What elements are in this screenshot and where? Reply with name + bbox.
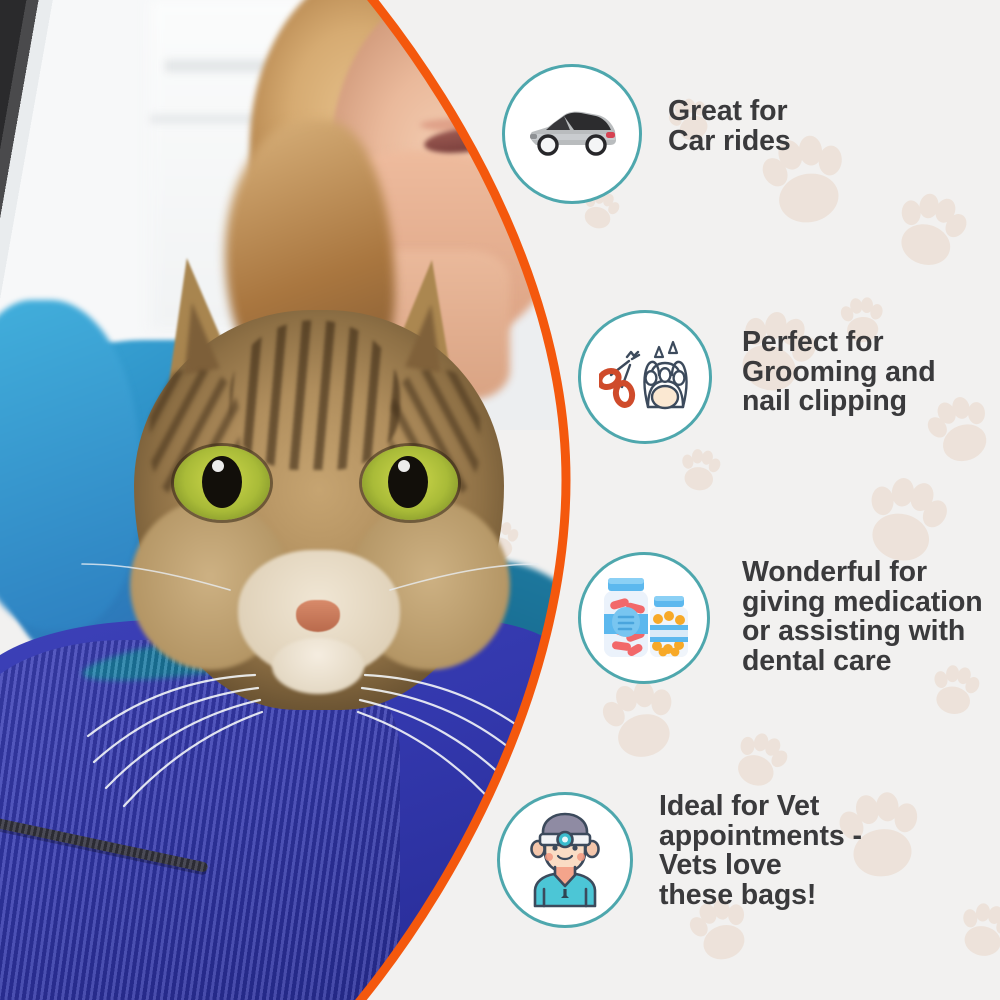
nail-clippers-paw-icon — [599, 335, 691, 419]
feature-grooming[interactable]: Perfect for Grooming and nail clipping — [578, 310, 936, 444]
feature-car-rides[interactable]: Great for Car rides — [502, 64, 791, 204]
feature-medication[interactable]: Wonderful for giving medication or assis… — [578, 552, 983, 684]
feature-icon-circle — [502, 64, 642, 204]
feature-icon-circle — [578, 310, 712, 444]
feature-label: Wonderful for giving medication or assis… — [742, 558, 983, 676]
feature-label: Ideal for Vet appointments - Vets love t… — [659, 792, 862, 910]
cat-photo-subject — [120, 250, 540, 730]
veterinarian-icon — [521, 812, 609, 908]
pill-bottles-icon — [594, 574, 694, 662]
feature-vet-appointments[interactable]: Ideal for Vet appointments - Vets love t… — [497, 792, 862, 928]
feature-icon-circle — [578, 552, 710, 684]
feature-icon-circle — [497, 792, 633, 928]
product-feature-image: Great for Car rides — [0, 0, 1000, 1000]
car-icon — [524, 107, 620, 161]
feature-label: Great for Car rides — [668, 97, 791, 156]
feature-label: Perfect for Grooming and nail clipping — [742, 328, 936, 417]
